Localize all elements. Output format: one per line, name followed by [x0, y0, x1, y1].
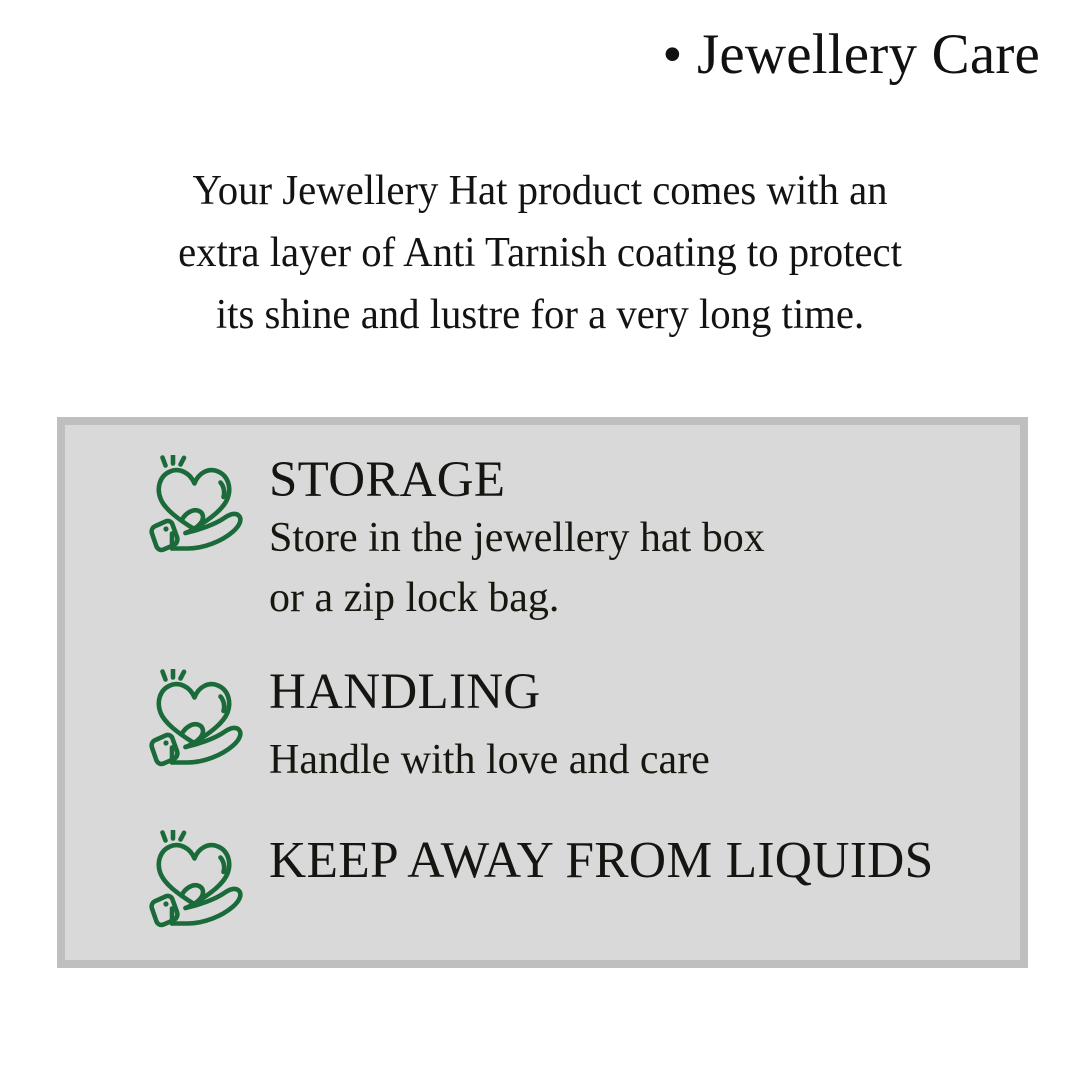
intro-line-2: extra layer of Anti Tarnish coating to p…: [74, 222, 1005, 284]
heart-in-hand-icon: [149, 455, 245, 555]
page-title: • Jewellery Care: [662, 24, 1040, 86]
care-item: HANDLING Handle with love and care: [149, 665, 710, 789]
heart-in-hand-icon: [149, 669, 245, 769]
heart-in-hand-icon: [149, 830, 245, 930]
care-item: KEEP AWAY FROM LIQUIDS: [149, 830, 940, 930]
care-item-body-line: or a zip lock bag.: [269, 569, 765, 627]
care-item-body-line: Store in the jewellery hat box: [269, 509, 765, 567]
care-instructions-list: STORAGE Store in the jewellery hat box o…: [65, 425, 1020, 960]
intro-line-1: Your Jewellery Hat product comes with an: [74, 160, 1005, 222]
care-item-text: HANDLING Handle with love and care: [269, 665, 710, 789]
care-item: STORAGE Store in the jewellery hat box o…: [149, 453, 765, 627]
intro-paragraph: Your Jewellery Hat product comes with an…: [60, 160, 1020, 346]
care-item-text: STORAGE Store in the jewellery hat box o…: [269, 453, 765, 627]
care-item-body-line: Handle with love and care: [269, 731, 710, 789]
care-item-heading: KEEP AWAY FROM LIQUIDS: [269, 830, 934, 892]
page-header: • Jewellery Care: [0, 24, 1040, 86]
care-instructions-panel: STORAGE Store in the jewellery hat box o…: [57, 417, 1028, 968]
intro-line-3: its shine and lustre for a very long tim…: [74, 284, 1005, 346]
care-item-text: KEEP AWAY FROM LIQUIDS: [269, 830, 940, 892]
care-item-heading: HANDLING: [269, 665, 710, 719]
care-item-heading: STORAGE: [269, 453, 765, 507]
